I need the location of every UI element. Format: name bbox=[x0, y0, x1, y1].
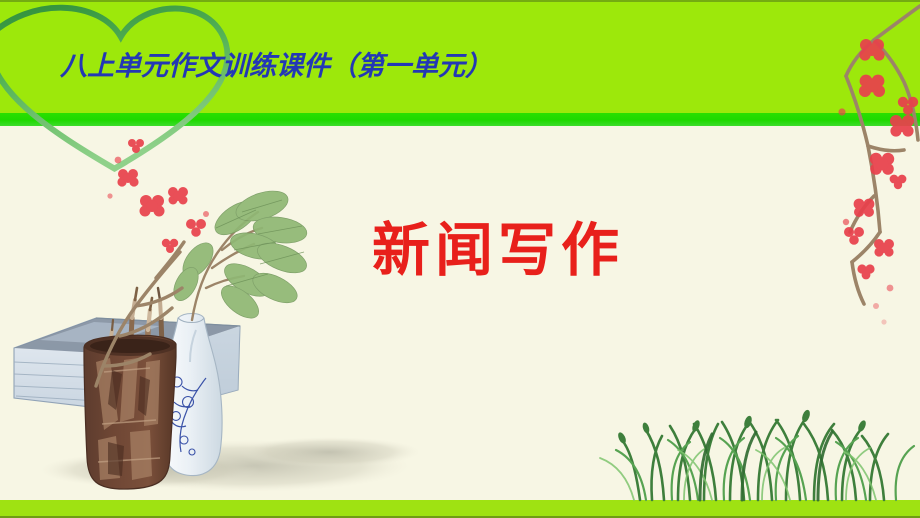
presentation-slide: 八上单元作文训练课件（第一单元） 新闻写作 bbox=[0, 0, 920, 518]
slide-header-title: 八上单元作文训练课件（第一单元） bbox=[60, 44, 492, 83]
slide-main-title: 新闻写作 bbox=[372, 203, 624, 287]
plum-flowers-left bbox=[107, 139, 209, 253]
plum-flowers-right bbox=[838, 39, 918, 325]
plum-blossom-branch-right bbox=[838, 6, 920, 325]
plum-blossom-branch-left bbox=[96, 139, 209, 386]
